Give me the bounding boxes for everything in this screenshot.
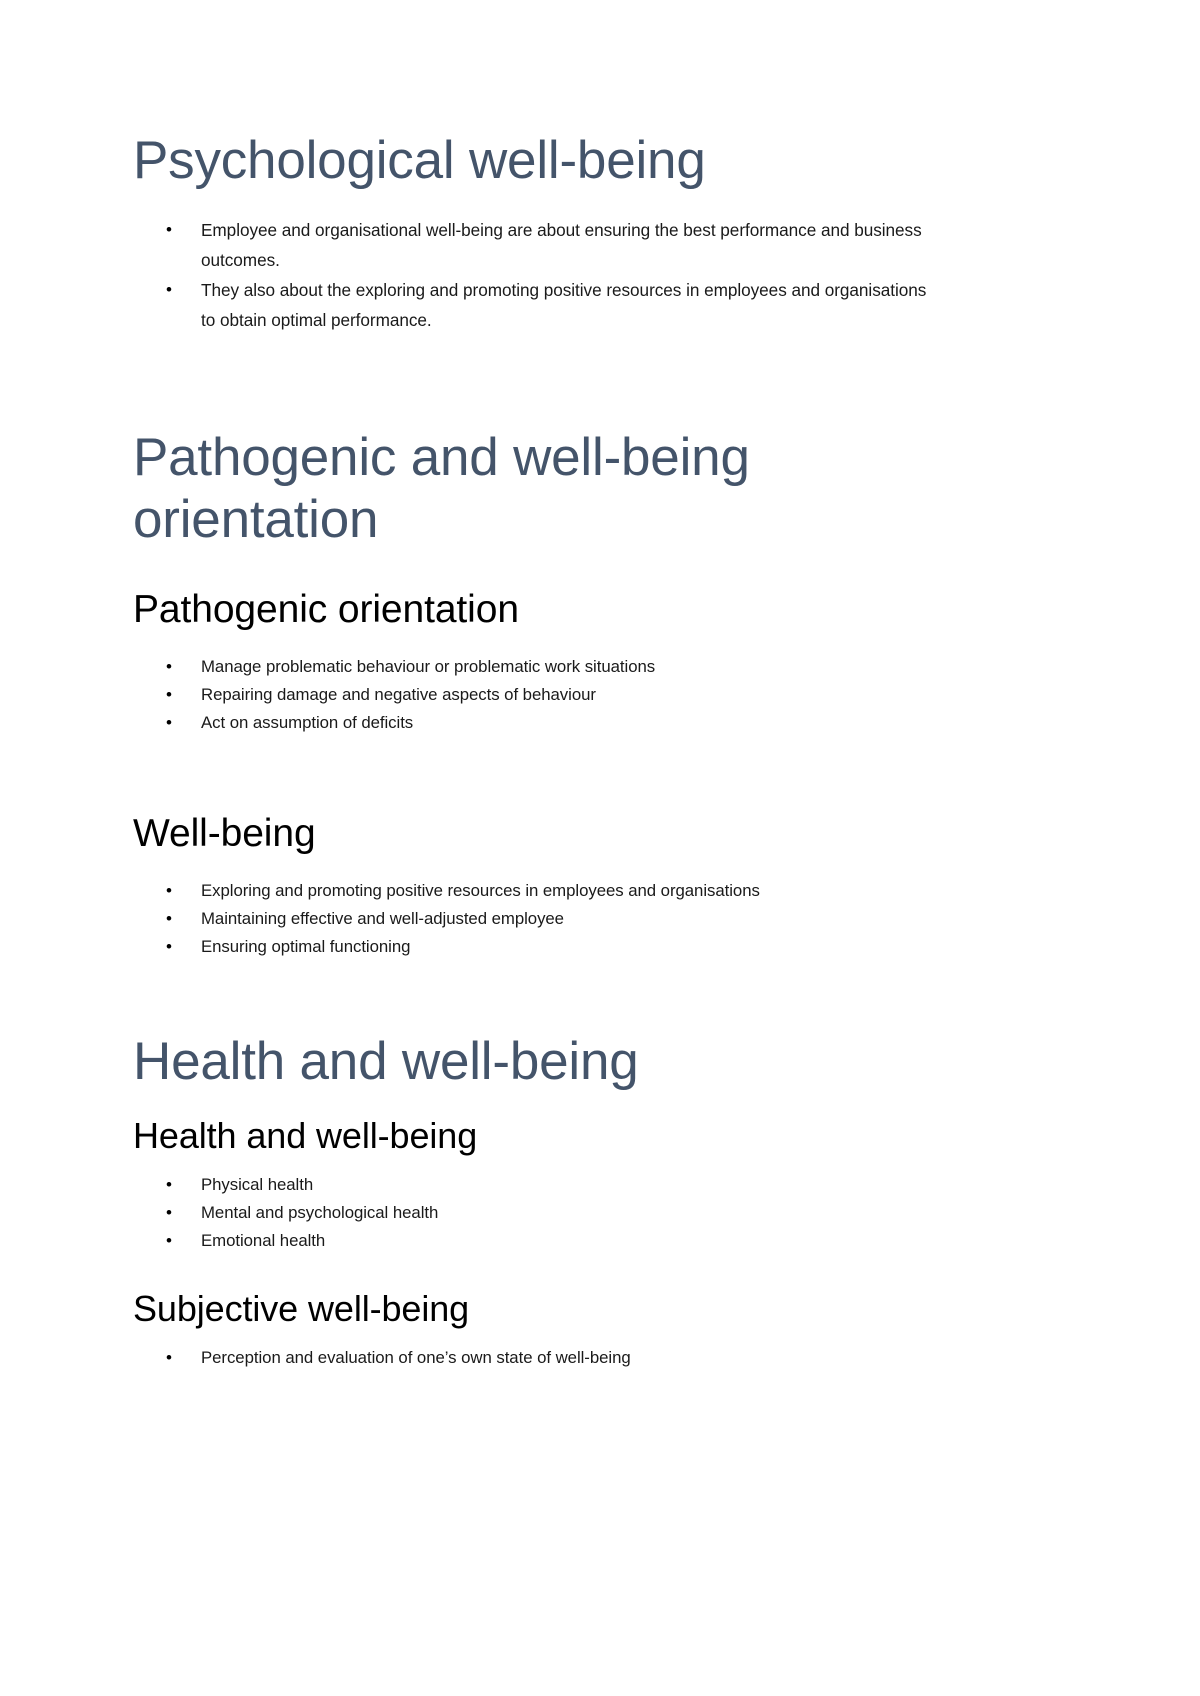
bullet-list-well-being: • Exploring and promoting positive resou… — [133, 877, 933, 961]
bullet-list-health-and-well-being: • Physical health • Mental and psycholog… — [133, 1171, 933, 1255]
page-title: Psychological well-being — [133, 130, 933, 193]
list-item: • Ensuring optimal functioning — [133, 933, 933, 961]
bullet-icon: • — [166, 905, 172, 933]
spacer — [133, 1330, 933, 1344]
list-item: • Mental and psychological health — [133, 1199, 933, 1227]
list-item: • They also about the exploring and prom… — [133, 275, 933, 335]
list-item-text: Perception and evaluation of one’s own s… — [201, 1344, 933, 1372]
spacer — [133, 552, 933, 588]
list-item-text: Employee and organisational well-being a… — [201, 215, 933, 275]
bullet-icon: • — [166, 653, 172, 681]
bullet-list-pathogenic-orientation: • Manage problematic behaviour or proble… — [133, 653, 933, 737]
list-item: • Maintaining effective and well-adjuste… — [133, 905, 933, 933]
bullet-icon: • — [166, 1171, 172, 1199]
spacer — [133, 1093, 933, 1115]
spacer — [133, 857, 933, 877]
heading-subjective-well-being: Subjective well-being — [133, 1288, 933, 1329]
list-item: • Physical health — [133, 1171, 933, 1199]
spacer — [133, 736, 933, 812]
spacer — [133, 193, 933, 215]
list-item: • Act on assumption of deficits — [133, 709, 933, 737]
bullet-icon: • — [166, 1227, 172, 1255]
bullet-icon: • — [166, 1199, 172, 1227]
document-body: Psychological well-being • Employee and … — [133, 130, 933, 1372]
heading-well-being: Well-being — [133, 812, 933, 857]
heading-health-and-well-being: Health and well-being — [133, 1031, 933, 1094]
list-item-text: Act on assumption of deficits — [201, 709, 933, 737]
list-item: • Perception and evaluation of one’s own… — [133, 1344, 933, 1372]
list-item: • Emotional health — [133, 1227, 933, 1255]
list-item-text: Manage problematic behaviour or problema… — [201, 653, 933, 681]
list-item: • Employee and organisational well-being… — [133, 215, 933, 275]
list-item-text: Ensuring optimal functioning — [201, 933, 933, 961]
heading-pathogenic-and-well-being-orientation: Pathogenic and well-being orientation — [133, 427, 933, 552]
spacer — [133, 1254, 933, 1288]
bullet-icon: • — [166, 275, 172, 305]
bullet-icon: • — [166, 709, 172, 737]
list-item-text: Exploring and promoting positive resourc… — [201, 877, 933, 905]
list-item: • Repairing damage and negative aspects … — [133, 681, 933, 709]
bullet-icon: • — [166, 681, 172, 709]
list-item-text: They also about the exploring and promot… — [201, 275, 933, 335]
bullet-icon: • — [166, 933, 172, 961]
spacer — [133, 1157, 933, 1171]
heading-health-and-well-being-sub: Health and well-being — [133, 1115, 933, 1156]
bullet-icon: • — [166, 1344, 172, 1372]
list-item-text: Emotional health — [201, 1227, 933, 1255]
list-item-text: Maintaining effective and well-adjusted … — [201, 905, 933, 933]
spacer — [133, 335, 933, 427]
list-item-text: Mental and psychological health — [201, 1199, 933, 1227]
document-page: Psychological well-being • Employee and … — [0, 0, 1200, 1696]
bullet-list-subjective-well-being: • Perception and evaluation of one’s own… — [133, 1344, 933, 1372]
spacer — [133, 633, 933, 653]
heading-pathogenic-orientation: Pathogenic orientation — [133, 588, 933, 633]
list-item: • Exploring and promoting positive resou… — [133, 877, 933, 905]
bullet-list-psychological-well-being: • Employee and organisational well-being… — [133, 215, 933, 335]
spacer — [133, 961, 933, 1031]
list-item-text: Physical health — [201, 1171, 933, 1199]
bullet-icon: • — [166, 215, 172, 245]
bullet-icon: • — [166, 877, 172, 905]
list-item: • Manage problematic behaviour or proble… — [133, 653, 933, 681]
list-item-text: Repairing damage and negative aspects of… — [201, 681, 933, 709]
